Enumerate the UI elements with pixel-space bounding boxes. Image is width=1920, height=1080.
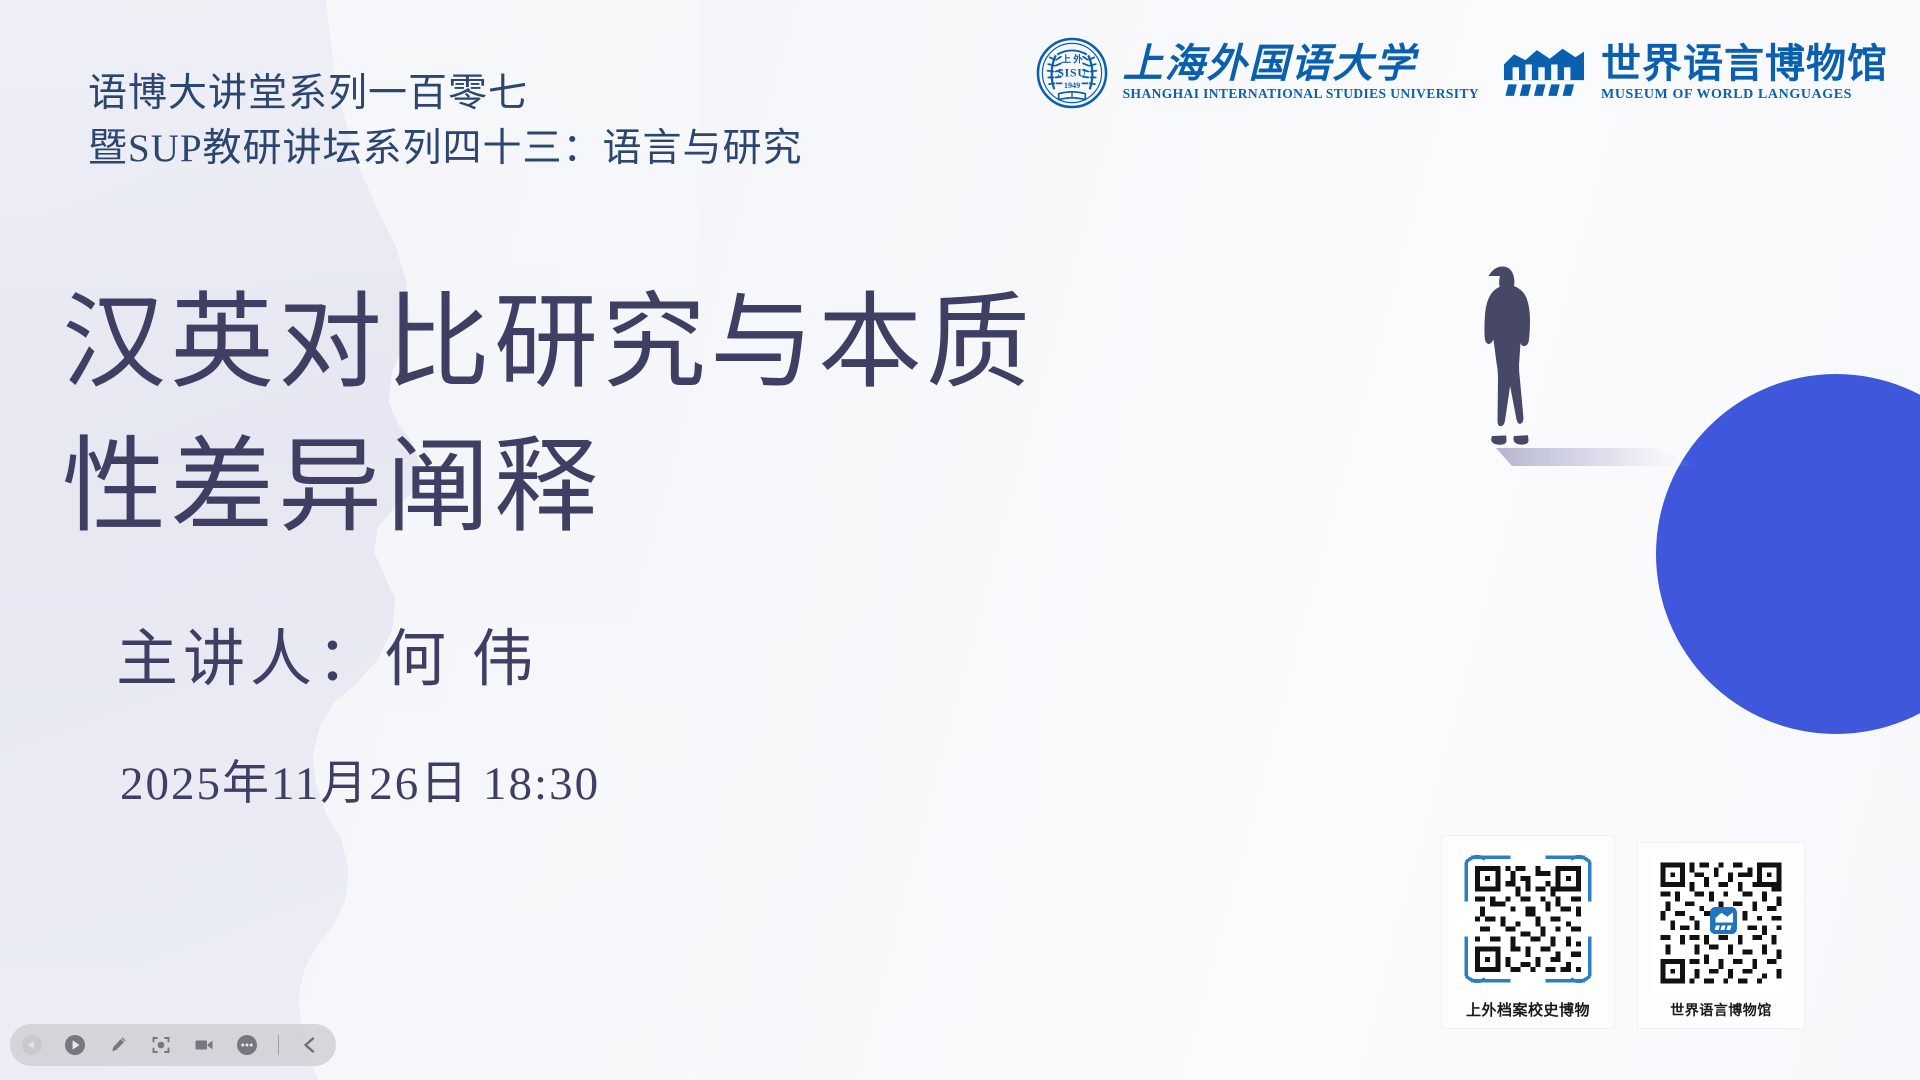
play-slide-button[interactable] [63, 1033, 87, 1057]
play-right-icon [64, 1034, 86, 1056]
series-heading: 语博大讲堂系列一百零七 暨SUP教研讲坛系列四十三：语言与研究 [88, 66, 803, 177]
qr-caption: 上外档案校史博物 [1466, 999, 1590, 1020]
chevron-left-icon [300, 1035, 320, 1055]
museum-building-icon [1501, 43, 1587, 103]
person-silhouette-illustration [1452, 252, 1752, 482]
qr-archive-museum-icon[interactable] [1455, 846, 1601, 992]
university-name-en: SHANGHAI INTERNATIONAL STUDIES UNIVERSIT… [1123, 86, 1479, 102]
play-left-icon [21, 1034, 43, 1056]
laser-focus-button[interactable] [149, 1033, 173, 1057]
annotate-pen-button[interactable] [106, 1033, 130, 1057]
person-shadow [1496, 448, 1698, 466]
svg-text:上 外: 上 外 [1061, 54, 1083, 66]
pen-icon [107, 1034, 129, 1056]
presentation-slide: 语博大讲堂系列一百零七 暨SUP教研讲坛系列四十三：语言与研究 上 外 SISU [0, 0, 1920, 1080]
university-name-cn: 上海外国语大学 [1123, 44, 1479, 84]
page-title: 汉英对比研究与本质 性差异阐释 [62, 272, 1034, 559]
more-options-button[interactable] [235, 1033, 259, 1057]
logo-group: 上 外 SISU 1949 上海外国语大学 SHANGHAI INTERNATI… [1035, 36, 1888, 110]
list-item[interactable]: 上外档案校史博物 [1442, 836, 1614, 1028]
qr-caption: 世界语言博物馆 [1670, 1000, 1772, 1020]
museum-logo: 世界语言博物馆 MUSEUM OF WORLD LANGUAGES [1501, 43, 1888, 103]
series-line-2: 暨SUP教研讲坛系列四十三：语言与研究 [88, 121, 803, 176]
presentation-toolbar[interactable] [10, 1024, 336, 1066]
series-line-1: 语博大讲堂系列一百零七 [88, 66, 803, 121]
qr-code-group: 上外档案校史博物 [1442, 836, 1804, 1028]
speaker-name: 主讲人：何 伟 [116, 608, 539, 698]
video-camera-icon [193, 1034, 215, 1056]
collapse-toolbar-button[interactable] [298, 1033, 322, 1057]
ellipsis-icon [236, 1034, 258, 1056]
focus-target-icon [150, 1034, 172, 1056]
toolbar-divider [278, 1035, 279, 1055]
previous-slide-button[interactable] [20, 1033, 44, 1057]
list-item[interactable]: 世界语言博物馆 [1638, 843, 1804, 1028]
sisu-seal-icon: 上 外 SISU 1949 [1035, 36, 1109, 110]
event-datetime: 2025年11月26日 18:30 [120, 744, 600, 813]
university-wordmark: 上海外国语大学 SHANGHAI INTERNATIONAL STUDIES U… [1123, 44, 1479, 102]
museum-wordmark: 世界语言博物馆 MUSEUM OF WORLD LANGUAGES [1601, 44, 1888, 103]
svg-text:1949: 1949 [1064, 81, 1080, 90]
svg-text:SISU: SISU [1057, 66, 1086, 80]
title-line-1: 汉英对比研究与本质 [62, 272, 1034, 416]
title-line-2: 性差异阐释 [62, 416, 1034, 560]
museum-name-cn: 世界语言博物馆 [1601, 44, 1888, 84]
record-video-button[interactable] [192, 1033, 216, 1057]
university-logo: 上 外 SISU 1949 上海外国语大学 SHANGHAI INTERNATI… [1035, 36, 1479, 110]
museum-name-en: MUSEUM OF WORLD LANGUAGES [1601, 87, 1888, 103]
qr-world-languages-museum-icon[interactable] [1651, 853, 1791, 993]
standing-person-icon [1452, 252, 1752, 482]
